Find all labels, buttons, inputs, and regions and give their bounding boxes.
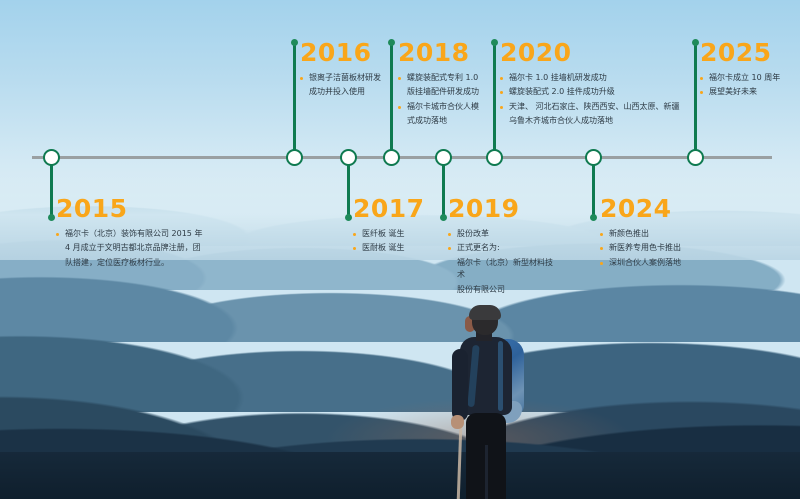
stem-2016	[293, 42, 296, 152]
bullet-item: 成功并投入使用	[300, 86, 390, 98]
bullet-item: 版挂墙配件研发成功	[398, 86, 490, 98]
bullet-item: 螺旋装配式 2.0 挂件成功升级	[500, 86, 680, 98]
bullet-list-2020: 福尔卡 1.0 挂墙机研发成功 螺旋装配式 2.0 挂件成功升级 天津、 河北石…	[500, 72, 680, 128]
bullet-item: 队搭建，定位医疗板材行业。	[56, 257, 236, 269]
timeline-entry-2015[interactable]: 2015 福尔卡（北京）装饰有限公司 2015 年 4 月成立于文明古都北京品牌…	[56, 196, 236, 271]
bullet-item: 医耐板 诞生	[353, 242, 443, 254]
hiker-leg-split	[485, 445, 488, 499]
year-label-2015: 2015	[56, 196, 236, 221]
timeline-node-2024[interactable]	[585, 149, 602, 166]
bullet-item: 股份改革	[448, 228, 553, 240]
stem-dot-2025	[692, 39, 699, 46]
bullet-item: 福尔卡 1.0 挂墙机研发成功	[500, 72, 680, 84]
timeline-node-2025[interactable]	[687, 149, 704, 166]
hiker-trekking-pole	[457, 425, 463, 499]
bullet-item: 4 月成立于文明古都北京品牌注册，团	[56, 242, 236, 254]
stem-dot-2024	[590, 214, 597, 221]
timeline-node-2019[interactable]	[435, 149, 452, 166]
bullet-list-2019: 股份改革 正式更名为: 福尔卡（北京）新型材料技术 股份有限公司	[448, 228, 553, 296]
bullet-list-2024: 新颜色推出 新医养专用色卡推出 深圳合伙人案例落地	[600, 228, 710, 269]
bullet-list-2025: 福尔卡成立 10 周年 展望美好未来	[700, 72, 796, 99]
timeline-entry-2024[interactable]: 2024 新颜色推出 新医养专用色卡推出 深圳合伙人案例落地	[600, 196, 710, 271]
stem-dot-2020	[491, 39, 498, 46]
stem-dot-2015	[48, 214, 55, 221]
timeline-axis	[32, 156, 772, 159]
year-label-2016: 2016	[300, 40, 390, 65]
bullet-list-2018: 螺旋装配式专利 1.0 版挂墙配件研发成功 福尔卡城市合伙人模 式成功落地	[398, 72, 490, 128]
bullet-list-2015: 福尔卡（北京）装饰有限公司 2015 年 4 月成立于文明古都北京品牌注册，团 …	[56, 228, 236, 269]
stem-2017	[347, 164, 350, 218]
hiker-arm	[452, 349, 468, 421]
bullet-item: 福尔卡城市合伙人模	[398, 101, 490, 113]
hiker-figure	[440, 305, 550, 499]
bullet-item: 医纤板 诞生	[353, 228, 443, 240]
bullet-list-2016: 银离子洁菌板材研发 成功并投入使用	[300, 72, 390, 99]
year-label-2025: 2025	[700, 40, 796, 65]
bullet-item: 福尔卡成立 10 周年	[700, 72, 796, 84]
timeline-entry-2017[interactable]: 2017 医纤板 诞生 医耐板 诞生	[353, 196, 443, 257]
bullet-item: 深圳合伙人案例落地	[600, 257, 710, 269]
timeline-entry-2020[interactable]: 2020 福尔卡 1.0 挂墙机研发成功 螺旋装配式 2.0 挂件成功升级 天津…	[500, 40, 680, 130]
bullet-item: 展望美好未来	[700, 86, 796, 98]
bullet-item: 螺旋装配式专利 1.0	[398, 72, 490, 84]
bullet-item: 天津、 河北石家庄、陕西西安、山西太原、新疆	[500, 101, 680, 113]
year-label-2017: 2017	[353, 196, 443, 221]
stem-2025	[694, 42, 697, 152]
timeline-entry-2018[interactable]: 2018 螺旋装配式专利 1.0 版挂墙配件研发成功 福尔卡城市合伙人模 式成功…	[398, 40, 490, 130]
bullet-list-2017: 医纤板 诞生 医耐板 诞生	[353, 228, 443, 255]
bullet-item: 乌鲁木齐城市合伙人成功落地	[500, 115, 680, 127]
timeline-entry-2019[interactable]: 2019 股份改革 正式更名为: 福尔卡（北京）新型材料技术 股份有限公司	[448, 196, 553, 298]
bullet-item: 式成功落地	[398, 115, 490, 127]
bullet-item: 福尔卡（北京）装饰有限公司 2015 年	[56, 228, 236, 240]
timeline-infographic: 2015 福尔卡（北京）装饰有限公司 2015 年 4 月成立于文明古都北京品牌…	[0, 0, 800, 499]
timeline-node-2017[interactable]	[340, 149, 357, 166]
timeline-node-2020[interactable]	[486, 149, 503, 166]
stem-dot-2016	[291, 39, 298, 46]
timeline-node-2016[interactable]	[286, 149, 303, 166]
hiker-shoulder-strap-right	[498, 341, 503, 411]
stem-2018	[390, 42, 393, 152]
bullet-item: 新医养专用色卡推出	[600, 242, 710, 254]
foreground-summit	[0, 452, 800, 499]
timeline-node-2015[interactable]	[43, 149, 60, 166]
year-label-2024: 2024	[600, 196, 710, 221]
stem-dot-2017	[345, 214, 352, 221]
stem-2024	[592, 164, 595, 218]
year-label-2019: 2019	[448, 196, 553, 221]
hiker-hand	[451, 415, 464, 429]
timeline-entry-2025[interactable]: 2025 福尔卡成立 10 周年 展望美好未来	[700, 40, 796, 101]
bullet-item: 银离子洁菌板材研发	[300, 72, 390, 84]
bullet-item: 福尔卡（北京）新型材料技术	[448, 257, 553, 282]
year-label-2020: 2020	[500, 40, 680, 65]
timeline-entry-2016[interactable]: 2016 银离子洁菌板材研发 成功并投入使用	[300, 40, 390, 101]
year-label-2018: 2018	[398, 40, 490, 65]
bullet-item: 股份有限公司	[448, 284, 553, 296]
stem-2015	[50, 164, 53, 218]
timeline-node-2018[interactable]	[383, 149, 400, 166]
stem-2020	[493, 42, 496, 152]
bullet-item: 正式更名为:	[448, 242, 553, 254]
bullet-item: 新颜色推出	[600, 228, 710, 240]
hiker-cap	[469, 305, 501, 320]
